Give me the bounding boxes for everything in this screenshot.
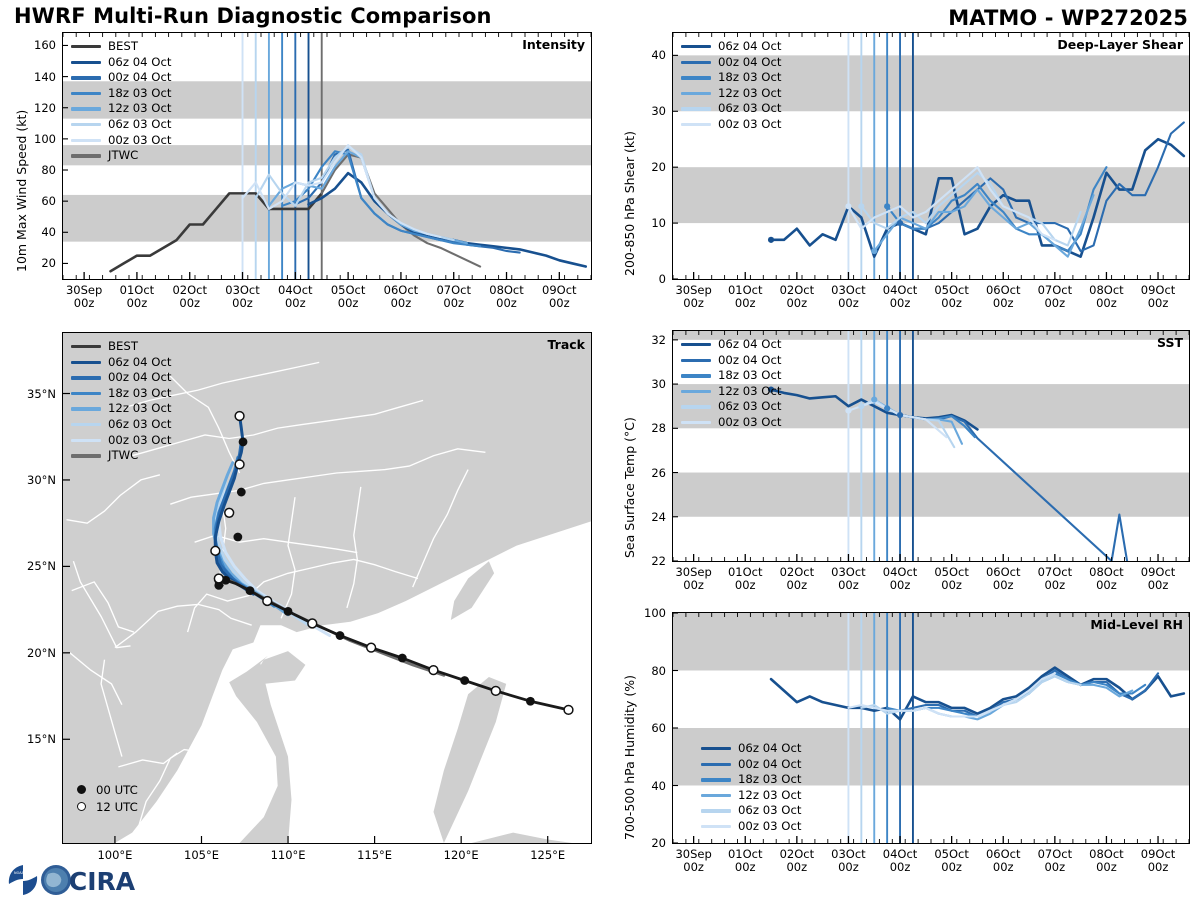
legend-label: 00z 03 Oct xyxy=(718,117,782,133)
legend-label: 06z 04 Oct xyxy=(108,355,172,371)
x-tick-hour: 00z xyxy=(780,579,815,592)
x-tick-hour: 00z xyxy=(120,297,155,310)
legend-item[interactable]: 06z 03 Oct xyxy=(681,101,782,117)
series-start-marker xyxy=(845,203,851,209)
legend-item[interactable]: 00z 04 Oct xyxy=(71,70,172,86)
track-panel-title: Track xyxy=(548,337,585,352)
track-marker-12utc xyxy=(491,686,500,695)
legend-swatch xyxy=(681,343,711,346)
legend-label: 00z 04 Oct xyxy=(108,70,172,86)
x-tick-hour: 00z xyxy=(1141,579,1176,592)
x-tick-hour: 00z xyxy=(986,297,1021,310)
x-tick-hour: 00z xyxy=(675,297,711,310)
x-tick-label: 04Oct00z xyxy=(883,566,918,592)
x-tick-label: 09Oct00z xyxy=(1141,848,1176,874)
x-tick-hour: 00z xyxy=(831,861,866,874)
page-title-left: HWRF Multi-Run Diagnostic Comparison xyxy=(14,4,492,28)
x-tick-label: 02Oct00z xyxy=(780,848,815,874)
legend-swatch xyxy=(71,92,101,95)
legend-label: BEST xyxy=(108,339,138,355)
x-tick-hour: 00z xyxy=(675,861,711,874)
legend-item[interactable]: 00z 04 Oct xyxy=(681,55,782,71)
y-tick-label: 10 xyxy=(630,216,666,230)
legend-item[interactable]: 00z 04 Oct xyxy=(71,370,172,386)
legend-label: BEST xyxy=(108,39,138,55)
legend-swatch xyxy=(681,405,711,408)
shaded-band xyxy=(673,473,1189,517)
panel-sst[interactable]: SST 06z 04 Oct00z 04 Oct18z 03 Oct12z 03… xyxy=(672,330,1190,562)
marker-legend-item: 00 UTC xyxy=(71,781,138,798)
y-tick-label: 60 xyxy=(20,194,56,208)
track-marker-00utc xyxy=(233,533,242,542)
x-tick-hour: 00z xyxy=(1038,579,1073,592)
map-x-tick-label: 110°E xyxy=(271,849,306,862)
series-start-marker xyxy=(871,396,877,402)
x-tick-label: 04Oct00z xyxy=(883,848,918,874)
x-tick-label: 01Oct00z xyxy=(728,848,763,874)
x-tick-hour: 00z xyxy=(831,297,866,310)
map-x-tick-label: 100°E xyxy=(97,849,132,862)
x-tick-label: 01Oct00z xyxy=(728,284,763,310)
legend-item[interactable]: 00z 03 Oct xyxy=(71,433,172,449)
map-y-tick-label: 30°N xyxy=(6,473,56,487)
series-start-marker xyxy=(897,220,903,226)
svg-text:CIRA: CIRA xyxy=(69,867,136,896)
map-x-tick-label: 125°E xyxy=(530,849,565,862)
legend-swatch xyxy=(71,154,101,157)
x-tick-hour: 00z xyxy=(986,579,1021,592)
x-tick-hour: 00z xyxy=(384,297,419,310)
legend-label: 06z 04 Oct xyxy=(718,337,782,353)
x-tick-label: 07Oct00z xyxy=(1038,284,1073,310)
rh-legend: 06z 04 Oct00z 04 Oct18z 03 Oct12z 03 Oct… xyxy=(701,741,802,835)
legend-item[interactable]: 18z 03 Oct xyxy=(71,86,172,102)
y-tick-label: 40 xyxy=(630,48,666,62)
x-tick-label: 30Sep00z xyxy=(675,566,711,592)
map-x-tick-label: 115°E xyxy=(357,849,392,862)
legend-label: 12z 03 Oct xyxy=(738,788,802,804)
x-tick-label: 02Oct00z xyxy=(172,284,207,310)
legend-label: JTWC xyxy=(108,148,138,164)
legend-item[interactable]: 12z 03 Oct xyxy=(701,788,802,804)
x-tick-label: 08Oct00z xyxy=(1089,848,1124,874)
y-tick-label: 100 xyxy=(630,606,666,620)
y-tick-label: 0 xyxy=(630,272,666,286)
legend-label: 00z 04 Oct xyxy=(108,370,172,386)
sst-y-axis-label: Sea Surface Temp (°C) xyxy=(622,417,637,558)
x-tick-label: 04Oct00z xyxy=(278,284,313,310)
x-tick-hour: 00z xyxy=(934,579,969,592)
x-tick-hour: 00z xyxy=(331,297,366,310)
x-tick-hour: 00z xyxy=(883,579,918,592)
y-tick-label: 28 xyxy=(630,421,666,435)
track-legend: BEST06z 04 Oct00z 04 Oct18z 03 Oct12z 03… xyxy=(71,339,172,464)
series-start-marker xyxy=(768,237,774,243)
x-tick-hour: 00z xyxy=(225,297,260,310)
legend-swatch xyxy=(71,107,101,110)
y-tick-label: 20 xyxy=(630,836,666,850)
x-tick-hour: 00z xyxy=(831,579,866,592)
legend-item[interactable]: 06z 04 Oct xyxy=(701,741,802,757)
shear-legend: 06z 04 Oct00z 04 Oct18z 03 Oct12z 03 Oct… xyxy=(681,39,782,133)
map-x-tick-label: 105°E xyxy=(184,849,219,862)
legend-item[interactable]: JTWC xyxy=(71,448,172,464)
legend-label: 06z 04 Oct xyxy=(738,741,802,757)
x-tick-label: 03Oct00z xyxy=(831,284,866,310)
page-title-right: MATMO - WP272025 xyxy=(948,6,1188,30)
legend-swatch xyxy=(701,763,731,766)
legend-swatch xyxy=(681,61,711,64)
legend-item[interactable]: JTWC xyxy=(71,148,172,164)
x-tick-label: 05Oct00z xyxy=(934,284,969,310)
cira-icon: CIRA xyxy=(41,865,136,896)
legend-swatch xyxy=(71,376,101,379)
legend-item[interactable]: 06z 03 Oct xyxy=(71,117,172,133)
x-tick-hour: 00z xyxy=(934,861,969,874)
track-marker-00utc xyxy=(237,488,246,497)
legend-label: 18z 03 Oct xyxy=(108,386,172,402)
legend-label: 18z 03 Oct xyxy=(718,368,782,384)
series-start-marker xyxy=(858,203,864,209)
legend-item[interactable]: 06z 04 Oct xyxy=(71,55,172,71)
map-y-tick-label: 20°N xyxy=(6,646,56,660)
track-marker-12utc xyxy=(235,460,244,469)
x-tick-label: 06Oct00z xyxy=(986,848,1021,874)
x-tick-hour: 00z xyxy=(66,297,102,310)
x-tick-label: 01Oct00z xyxy=(728,566,763,592)
legend-label: 00z 04 Oct xyxy=(738,757,802,773)
legend-label: 12z 03 Oct xyxy=(108,401,172,417)
x-tick-hour: 00z xyxy=(780,297,815,310)
series-start-marker xyxy=(884,405,890,411)
x-tick-hour: 00z xyxy=(675,579,711,592)
legend-item[interactable]: 06z 04 Oct xyxy=(681,39,782,55)
legend-swatch xyxy=(681,107,711,110)
legend-swatch xyxy=(71,139,101,142)
legend-swatch xyxy=(701,809,731,812)
x-tick-label: 07Oct00z xyxy=(1038,848,1073,874)
legend-item[interactable]: 06z 03 Oct xyxy=(701,803,802,819)
y-tick-label: 160 xyxy=(20,38,56,52)
y-tick-label: 40 xyxy=(20,225,56,239)
legend-label: JTWC xyxy=(108,448,138,464)
legend-swatch xyxy=(71,454,101,457)
legend-swatch xyxy=(701,778,731,781)
x-tick-label: 06Oct00z xyxy=(384,284,419,310)
x-tick-label: 09Oct00z xyxy=(542,284,577,310)
track-marker-12utc xyxy=(235,412,244,421)
x-tick-hour: 00z xyxy=(986,861,1021,874)
rh-panel-title: Mid-Level RH xyxy=(1090,617,1183,632)
x-tick-label: 04Oct00z xyxy=(883,284,918,310)
track-marker-12utc xyxy=(564,705,573,714)
y-tick-label: 20 xyxy=(20,256,56,270)
map-y-tick-label: 25°N xyxy=(6,559,56,573)
branding-logos: NOAA CIRA xyxy=(6,862,156,898)
legend-item[interactable]: 06z 03 Oct xyxy=(71,417,172,433)
legend-label: 18z 03 Oct xyxy=(738,772,802,788)
y-tick-label: 120 xyxy=(20,101,56,115)
map-y-tick-label: 15°N xyxy=(6,732,56,746)
x-tick-hour: 00z xyxy=(1089,861,1124,874)
x-tick-label: 02Oct00z xyxy=(780,284,815,310)
legend-item[interactable]: 12z 03 Oct xyxy=(71,401,172,417)
legend-label: 06z 04 Oct xyxy=(718,39,782,55)
marker-legend-label: 00 UTC xyxy=(96,783,138,797)
series-start-marker xyxy=(858,403,864,409)
legend-swatch xyxy=(681,123,711,126)
track-marker-12utc xyxy=(263,597,272,606)
legend-label: 00z 04 Oct xyxy=(718,353,782,369)
x-tick-hour: 00z xyxy=(489,297,524,310)
x-tick-hour: 00z xyxy=(1141,297,1176,310)
x-tick-hour: 00z xyxy=(1038,297,1073,310)
legend-label: 12z 03 Oct xyxy=(718,86,782,102)
track-marker-12utc xyxy=(429,666,438,675)
legend-swatch xyxy=(71,61,101,64)
x-tick-label: 06Oct00z xyxy=(986,284,1021,310)
x-tick-hour: 00z xyxy=(728,297,763,310)
y-tick-label: 100 xyxy=(20,132,56,146)
legend-label: 12z 03 Oct xyxy=(718,384,782,400)
x-tick-label: 08Oct00z xyxy=(1089,284,1124,310)
panel-shear[interactable]: Deep-Layer Shear 06z 04 Oct00z 04 Oct18z… xyxy=(672,32,1190,280)
legend-label: 00z 04 Oct xyxy=(718,55,782,71)
x-tick-label: 03Oct00z xyxy=(225,284,260,310)
legend-swatch xyxy=(71,45,101,48)
y-tick-label: 20 xyxy=(630,160,666,174)
legend-item[interactable]: 06z 04 Oct xyxy=(71,355,172,371)
x-tick-hour: 00z xyxy=(172,297,207,310)
sst-panel-title: SST xyxy=(1157,335,1183,350)
track-marker-00utc xyxy=(246,586,255,595)
y-tick-label: 30 xyxy=(630,377,666,391)
map-y-tick-label: 35°N xyxy=(6,387,56,401)
y-tick-label: 80 xyxy=(20,163,56,177)
x-tick-hour: 00z xyxy=(436,297,471,310)
legend-item[interactable]: 00z 03 Oct xyxy=(71,133,172,149)
panel-track[interactable]: Track BEST06z 04 Oct00z 04 Oct18z 03 Oct… xyxy=(62,332,592,844)
legend-label: 18z 03 Oct xyxy=(108,86,172,102)
x-tick-hour: 00z xyxy=(728,861,763,874)
legend-label: 06z 03 Oct xyxy=(718,101,782,117)
x-tick-label: 05Oct00z xyxy=(331,284,366,310)
x-tick-label: 06Oct00z xyxy=(986,566,1021,592)
legend-swatch xyxy=(681,374,711,377)
legend-label: 06z 03 Oct xyxy=(718,399,782,415)
series-start-marker xyxy=(845,408,851,414)
x-tick-hour: 00z xyxy=(278,297,313,310)
legend-swatch xyxy=(71,439,101,442)
legend-swatch xyxy=(71,392,101,395)
x-tick-label: 03Oct00z xyxy=(831,848,866,874)
legend-label: 06z 03 Oct xyxy=(738,803,802,819)
filled-dot-icon xyxy=(77,785,86,794)
legend-label: 06z 03 Oct xyxy=(108,417,172,433)
legend-item[interactable]: 18z 03 Oct xyxy=(701,772,802,788)
legend-item[interactable]: 12z 03 Oct xyxy=(71,101,172,117)
legend-item[interactable]: BEST xyxy=(71,39,172,55)
legend-item[interactable]: 00z 03 Oct xyxy=(701,819,802,835)
shear-panel-title: Deep-Layer Shear xyxy=(1057,37,1183,52)
legend-swatch xyxy=(71,345,101,348)
track-marker-00utc xyxy=(460,676,469,685)
panel-rh[interactable]: Mid-Level RH 06z 04 Oct00z 04 Oct18z 03 … xyxy=(672,612,1190,844)
y-tick-label: 40 xyxy=(630,779,666,793)
legend-swatch xyxy=(71,123,101,126)
legend-item[interactable]: 06z 03 Oct xyxy=(681,399,782,415)
x-tick-label: 30Sep00z xyxy=(675,284,711,310)
x-tick-label: 09Oct00z xyxy=(1141,566,1176,592)
track-marker-12utc xyxy=(225,508,234,517)
y-tick-label: 24 xyxy=(630,510,666,524)
legend-item[interactable]: 18z 03 Oct xyxy=(681,70,782,86)
x-tick-label: 09Oct00z xyxy=(1141,284,1176,310)
x-tick-label: 30Sep00z xyxy=(675,848,711,874)
legend-label: 00z 03 Oct xyxy=(738,819,802,835)
x-tick-label: 07Oct00z xyxy=(436,284,471,310)
legend-item[interactable]: 06z 04 Oct xyxy=(681,337,782,353)
legend-item[interactable]: 18z 03 Oct xyxy=(71,386,172,402)
x-tick-hour: 00z xyxy=(1038,861,1073,874)
legend-item[interactable]: BEST xyxy=(71,339,172,355)
legend-label: 00z 03 Oct xyxy=(108,433,172,449)
legend-swatch xyxy=(681,92,711,95)
legend-swatch xyxy=(71,76,101,79)
legend-item[interactable]: 12z 03 Oct xyxy=(681,384,782,400)
track-marker-00utc xyxy=(239,438,248,447)
legend-swatch xyxy=(681,390,711,393)
x-tick-hour: 00z xyxy=(1141,861,1176,874)
series-start-marker xyxy=(897,412,903,418)
legend-swatch xyxy=(681,76,711,79)
legend-label: 18z 03 Oct xyxy=(718,70,782,86)
x-tick-label: 01Oct00z xyxy=(120,284,155,310)
marker-legend-label: 12 UTC xyxy=(96,800,138,814)
track-marker-00utc xyxy=(336,631,345,640)
legend-swatch xyxy=(701,794,731,797)
x-tick-label: 02Oct00z xyxy=(780,566,815,592)
x-tick-label: 08Oct00z xyxy=(489,284,524,310)
svg-text:NOAA: NOAA xyxy=(14,871,25,875)
x-tick-hour: 00z xyxy=(1089,579,1124,592)
x-tick-hour: 00z xyxy=(934,297,969,310)
legend-label: 06z 03 Oct xyxy=(108,117,172,133)
x-tick-hour: 00z xyxy=(542,297,577,310)
legend-item[interactable]: 18z 03 Oct xyxy=(681,368,782,384)
legend-swatch xyxy=(701,747,731,750)
x-tick-hour: 00z xyxy=(883,297,918,310)
noaa-icon: NOAA xyxy=(7,864,39,896)
map-x-tick-label: 120°E xyxy=(444,849,479,862)
legend-item[interactable]: 00z 04 Oct xyxy=(701,757,802,773)
open-dot-icon xyxy=(77,802,86,811)
y-tick-label: 140 xyxy=(20,70,56,84)
x-tick-hour: 00z xyxy=(883,861,918,874)
sst-legend: 06z 04 Oct00z 04 Oct18z 03 Oct12z 03 Oct… xyxy=(681,337,782,431)
legend-swatch xyxy=(681,45,711,48)
legend-swatch xyxy=(71,423,101,426)
y-tick-label: 80 xyxy=(630,664,666,678)
series-start-marker xyxy=(884,203,890,209)
legend-label: 00z 03 Oct xyxy=(718,415,782,431)
y-tick-label: 22 xyxy=(630,554,666,568)
legend-item[interactable]: 00z 04 Oct xyxy=(681,353,782,369)
legend-label: 00z 03 Oct xyxy=(108,133,172,149)
x-tick-label: 30Sep00z xyxy=(66,284,102,310)
x-tick-hour: 00z xyxy=(1089,297,1124,310)
x-tick-label: 05Oct00z xyxy=(934,848,969,874)
series-start-marker xyxy=(871,248,877,254)
rh-y-axis-label: 700-500 hPa Humidity (%) xyxy=(622,675,637,840)
track-marker-legend: 00 UTC12 UTC xyxy=(71,781,138,815)
x-tick-label: 08Oct00z xyxy=(1089,566,1124,592)
legend-item[interactable]: 00z 03 Oct xyxy=(681,415,782,431)
legend-label: 12z 03 Oct xyxy=(108,101,172,117)
track-marker-00utc xyxy=(526,697,535,706)
track-marker-00utc xyxy=(284,607,293,616)
track-marker-12utc xyxy=(308,619,317,628)
track-marker-12utc xyxy=(367,643,376,652)
legend-swatch xyxy=(701,825,731,828)
track-marker-00utc xyxy=(398,654,407,663)
y-tick-label: 26 xyxy=(630,466,666,480)
legend-item[interactable]: 12z 03 Oct xyxy=(681,86,782,102)
y-tick-label: 30 xyxy=(630,104,666,118)
track-marker-12utc xyxy=(211,546,220,555)
y-tick-label: 32 xyxy=(630,333,666,347)
shear-y-axis-label: 200-850 hPa Shear (kt) xyxy=(622,131,637,276)
intensity-legend: BEST06z 04 Oct00z 04 Oct18z 03 Oct12z 03… xyxy=(71,39,172,164)
legend-swatch xyxy=(681,421,711,424)
legend-label: 06z 04 Oct xyxy=(108,55,172,71)
y-tick-label: 60 xyxy=(630,721,666,735)
track-marker-12utc xyxy=(214,574,223,583)
intensity-panel-title: Intensity xyxy=(522,37,585,52)
x-tick-hour: 00z xyxy=(728,579,763,592)
marker-legend-item: 12 UTC xyxy=(71,798,138,815)
shaded-band xyxy=(63,195,591,242)
legend-swatch xyxy=(681,359,711,362)
x-tick-label: 07Oct00z xyxy=(1038,566,1073,592)
legend-swatch xyxy=(71,361,101,364)
x-tick-label: 03Oct00z xyxy=(831,566,866,592)
x-tick-hour: 00z xyxy=(780,861,815,874)
panel-intensity[interactable]: Intensity BEST06z 04 Oct00z 04 Oct18z 03… xyxy=(62,32,592,280)
x-tick-label: 05Oct00z xyxy=(934,566,969,592)
legend-item[interactable]: 00z 03 Oct xyxy=(681,117,782,133)
legend-swatch xyxy=(71,407,101,410)
